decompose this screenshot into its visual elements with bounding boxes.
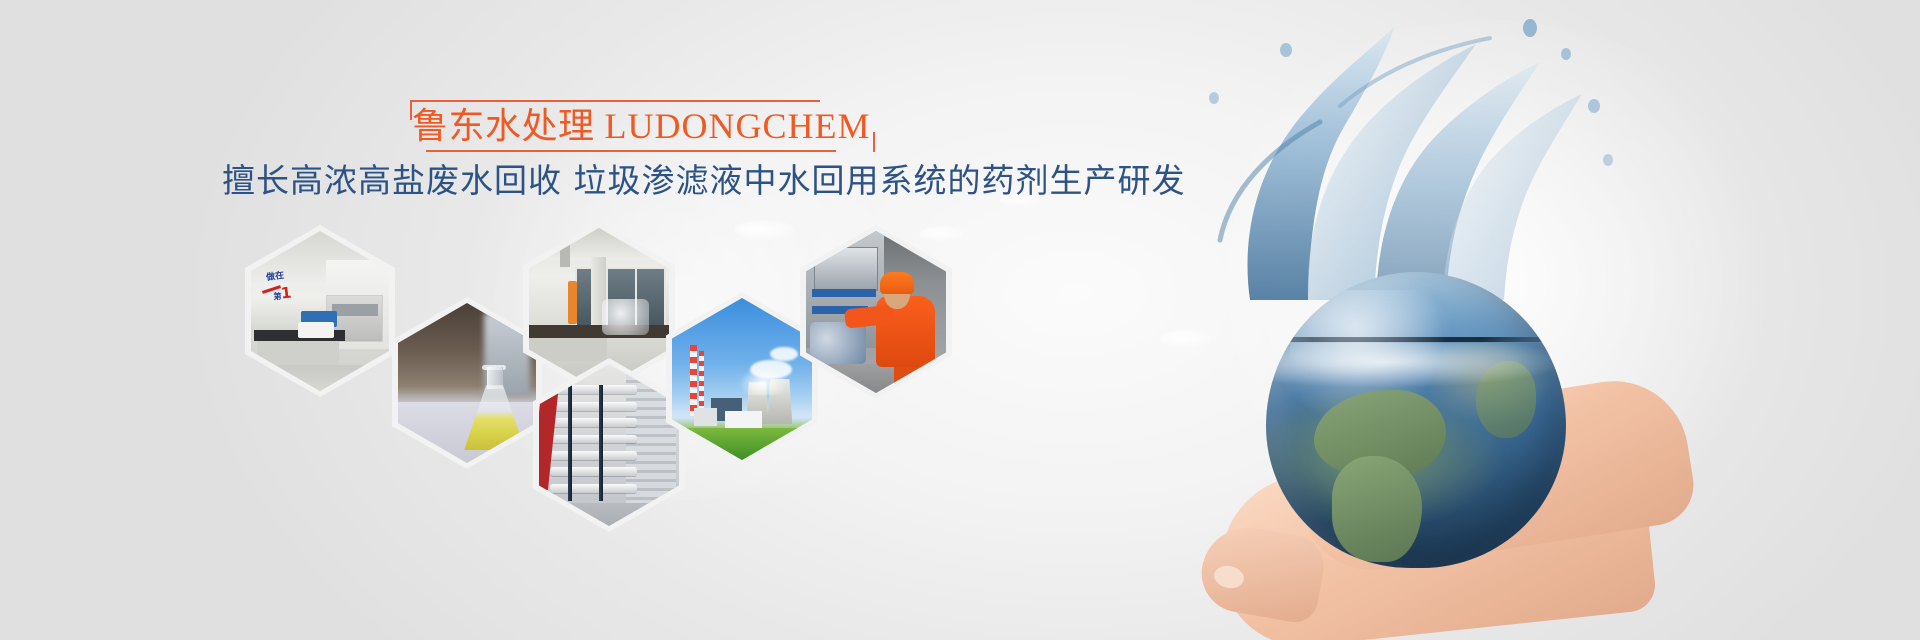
frame-post xyxy=(568,385,572,501)
hex-ro-skid[interactable] xyxy=(533,358,685,532)
hex-flask[interactable] xyxy=(392,297,542,469)
water-earth-visual xyxy=(1060,0,1920,640)
membrane-vessel xyxy=(550,418,637,427)
hex-power-plant[interactable] xyxy=(666,292,818,466)
glassware-cluster xyxy=(602,299,650,335)
membrane-vessel xyxy=(550,435,637,444)
frame-post xyxy=(599,385,603,501)
membrane-vessel xyxy=(550,467,637,476)
floor xyxy=(539,503,679,526)
white-instrument xyxy=(298,322,334,338)
water-earth-globe xyxy=(1266,272,1566,568)
orange-stand xyxy=(568,281,576,323)
slogan-line-1: 做在 xyxy=(265,268,285,283)
striped-chimney xyxy=(690,345,697,416)
hero-banner: 鲁东水处理 LUDONGCHEM 擅长高浓高盐废水回收 垃圾渗滤液中水回用系统的… xyxy=(0,0,1920,640)
hard-hat-icon xyxy=(880,272,914,295)
slogan-line-2: 1 xyxy=(280,284,292,303)
sky-cloud xyxy=(770,347,798,362)
membrane-vessel xyxy=(550,484,637,493)
membrane-rack xyxy=(550,380,637,506)
striped-chimney xyxy=(699,351,705,416)
water-splash xyxy=(1190,10,1620,310)
valve-assembly xyxy=(810,322,866,364)
hexagon-gallery: 做在 第 1 xyxy=(0,0,1000,560)
landmass xyxy=(1332,456,1422,563)
steam-plume xyxy=(739,366,787,395)
hex-worker[interactable] xyxy=(800,225,952,399)
plant-building xyxy=(694,408,716,426)
membrane-vessel xyxy=(550,402,637,411)
wall-slogan: 做在 第 1 xyxy=(262,269,325,304)
globe-highlight xyxy=(1290,290,1452,379)
hex-lab-room[interactable]: 做在 第 1 xyxy=(245,225,395,397)
blue-pipe xyxy=(812,289,876,297)
control-panel xyxy=(814,247,878,291)
membrane-vessel xyxy=(550,451,637,460)
plant-building xyxy=(725,411,761,427)
